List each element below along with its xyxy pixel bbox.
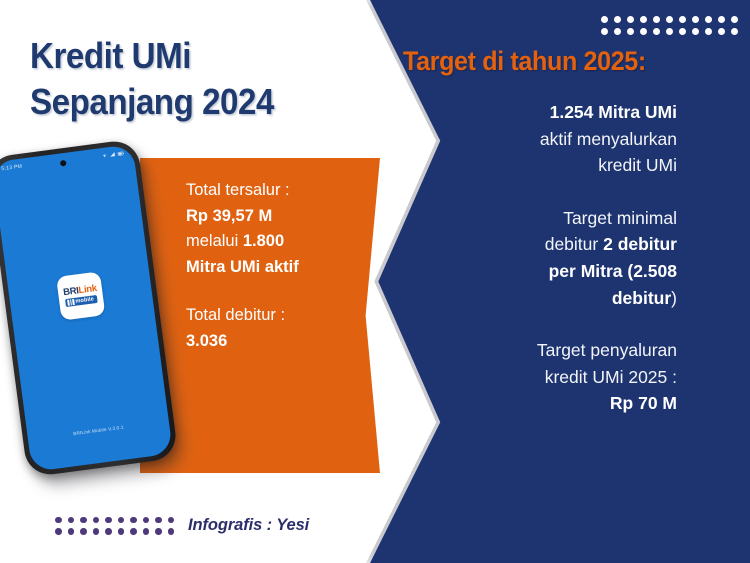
decorative-dot xyxy=(627,28,634,35)
target-block-debitur: Target minimal debitur 2 debitur per Mit… xyxy=(395,205,695,311)
decorative-dot xyxy=(705,28,712,35)
target-block-mitra: 1.254 Mitra UMi aktif menyalurkan kredit… xyxy=(395,99,695,179)
orange-stat-text: Total tersalur : Rp 39,57 M melalui 1.80… xyxy=(186,178,351,354)
target-debitur-line3: per Mitra (2.508 xyxy=(395,258,677,285)
decorative-dot xyxy=(601,28,608,35)
logo-link-text: Link xyxy=(78,283,98,296)
target-heading: Target di tahun 2025: xyxy=(403,46,675,77)
dot-row xyxy=(601,28,738,35)
decorative-dot xyxy=(705,16,712,23)
target-penyaluran-line3: Rp 70 M xyxy=(395,390,677,417)
decorative-dot xyxy=(168,528,175,535)
decorative-dot xyxy=(679,16,686,23)
decorative-dot xyxy=(601,16,608,23)
stat-value-amount: Rp 39,57 M xyxy=(186,204,351,230)
decorative-dot xyxy=(640,16,647,23)
decorative-dot xyxy=(168,517,175,524)
decorative-dot xyxy=(118,528,125,535)
logo-bri-text: BRI xyxy=(62,285,79,298)
target-debitur-line4: debitur) xyxy=(395,285,677,312)
wifi-icon xyxy=(101,152,108,159)
decorative-dot xyxy=(718,28,725,35)
dot-grid-top-right xyxy=(601,16,738,35)
target-debitur-line1: Target minimal xyxy=(395,205,677,232)
logo-mobile-text: mobile xyxy=(75,297,94,305)
decorative-dot xyxy=(679,28,686,35)
decorative-dot xyxy=(155,517,162,524)
app-version-text: BRILink Mobile V.3.0.1 xyxy=(28,419,169,442)
footer-credit: Infografis : Yesi xyxy=(55,516,309,535)
decorative-dot xyxy=(130,517,137,524)
decorative-dot xyxy=(614,28,621,35)
page-title-line1: Kredit UMi xyxy=(30,33,274,79)
infographic-canvas: Kredit UMi Sepanjang 2024 Total tersalur… xyxy=(0,0,750,563)
decorative-dot xyxy=(105,517,112,524)
decorative-dot xyxy=(55,517,62,524)
target-panel-content: Target di tahun 2025: 1.254 Mitra UMi ak… xyxy=(395,46,695,443)
brilink-logo: BRILink mobile xyxy=(56,271,105,320)
decorative-dot xyxy=(666,16,673,23)
decorative-dot xyxy=(692,28,699,35)
decorative-dot xyxy=(614,16,621,23)
battery-icon xyxy=(117,150,125,157)
decorative-dot xyxy=(627,16,634,23)
stat-group-tersalur: Total tersalur : Rp 39,57 M melalui 1.80… xyxy=(186,178,351,281)
credit-text: Infografis : Yesi xyxy=(188,516,309,535)
decorative-dot xyxy=(666,28,673,35)
dot-row xyxy=(55,517,174,524)
decorative-dot xyxy=(143,528,150,535)
dot-grid-bottom-left xyxy=(55,517,174,535)
stat-via-suffix: Mitra UMi aktif xyxy=(186,255,351,281)
target-mitra-line1: 1.254 Mitra UMi xyxy=(395,99,677,126)
decorative-dot xyxy=(80,528,87,535)
signal-icon xyxy=(109,151,116,158)
decorative-dot xyxy=(731,28,738,35)
decorative-dot xyxy=(718,16,725,23)
status-bar-time: 5:13 PM xyxy=(1,164,22,173)
decorative-dot xyxy=(731,16,738,23)
status-bar-icons xyxy=(101,150,125,159)
decorative-dot xyxy=(640,28,647,35)
target-penyaluran-line1: Target penyaluran xyxy=(395,337,677,364)
decorative-dot xyxy=(653,16,660,23)
decorative-dot xyxy=(80,517,87,524)
stat-label-debitur: Total debitur : xyxy=(186,303,351,329)
target-mitra-line3: kredit UMi xyxy=(395,152,677,179)
decorative-dot xyxy=(692,16,699,23)
phone-body: 5:13 PM xyxy=(0,138,179,477)
decorative-dot xyxy=(93,528,100,535)
decorative-dot xyxy=(155,528,162,535)
page-title-line2: Sepanjang 2024 xyxy=(30,79,274,125)
stat-via-line: melalui 1.800 xyxy=(186,229,351,255)
stat-label-tersalur: Total tersalur : xyxy=(186,178,351,204)
decorative-dot xyxy=(653,28,660,35)
decorative-dot xyxy=(105,528,112,535)
decorative-dot xyxy=(130,528,137,535)
decorative-dot xyxy=(143,517,150,524)
decorative-dot xyxy=(93,517,100,524)
target-block-penyaluran: Target penyaluran kredit UMi 2025 : Rp 7… xyxy=(395,337,695,417)
decorative-dot xyxy=(68,517,75,524)
target-mitra-line2: aktif menyalurkan xyxy=(395,126,677,153)
signal-bars-icon xyxy=(67,299,74,306)
target-debitur-line2: debitur 2 debitur xyxy=(395,231,677,258)
decorative-dot xyxy=(118,517,125,524)
decorative-dot xyxy=(55,528,62,535)
dot-row xyxy=(601,16,738,23)
phone-status-bar: 5:13 PM xyxy=(0,144,134,178)
stat-group-debitur: Total debitur : 3.036 xyxy=(186,303,351,354)
page-title: Kredit UMi Sepanjang 2024 xyxy=(30,33,274,125)
dot-row xyxy=(55,528,174,535)
target-penyaluran-line2: kredit UMi 2025 : xyxy=(395,364,677,391)
decorative-dot xyxy=(68,528,75,535)
stat-value-debitur: 3.036 xyxy=(186,329,351,355)
